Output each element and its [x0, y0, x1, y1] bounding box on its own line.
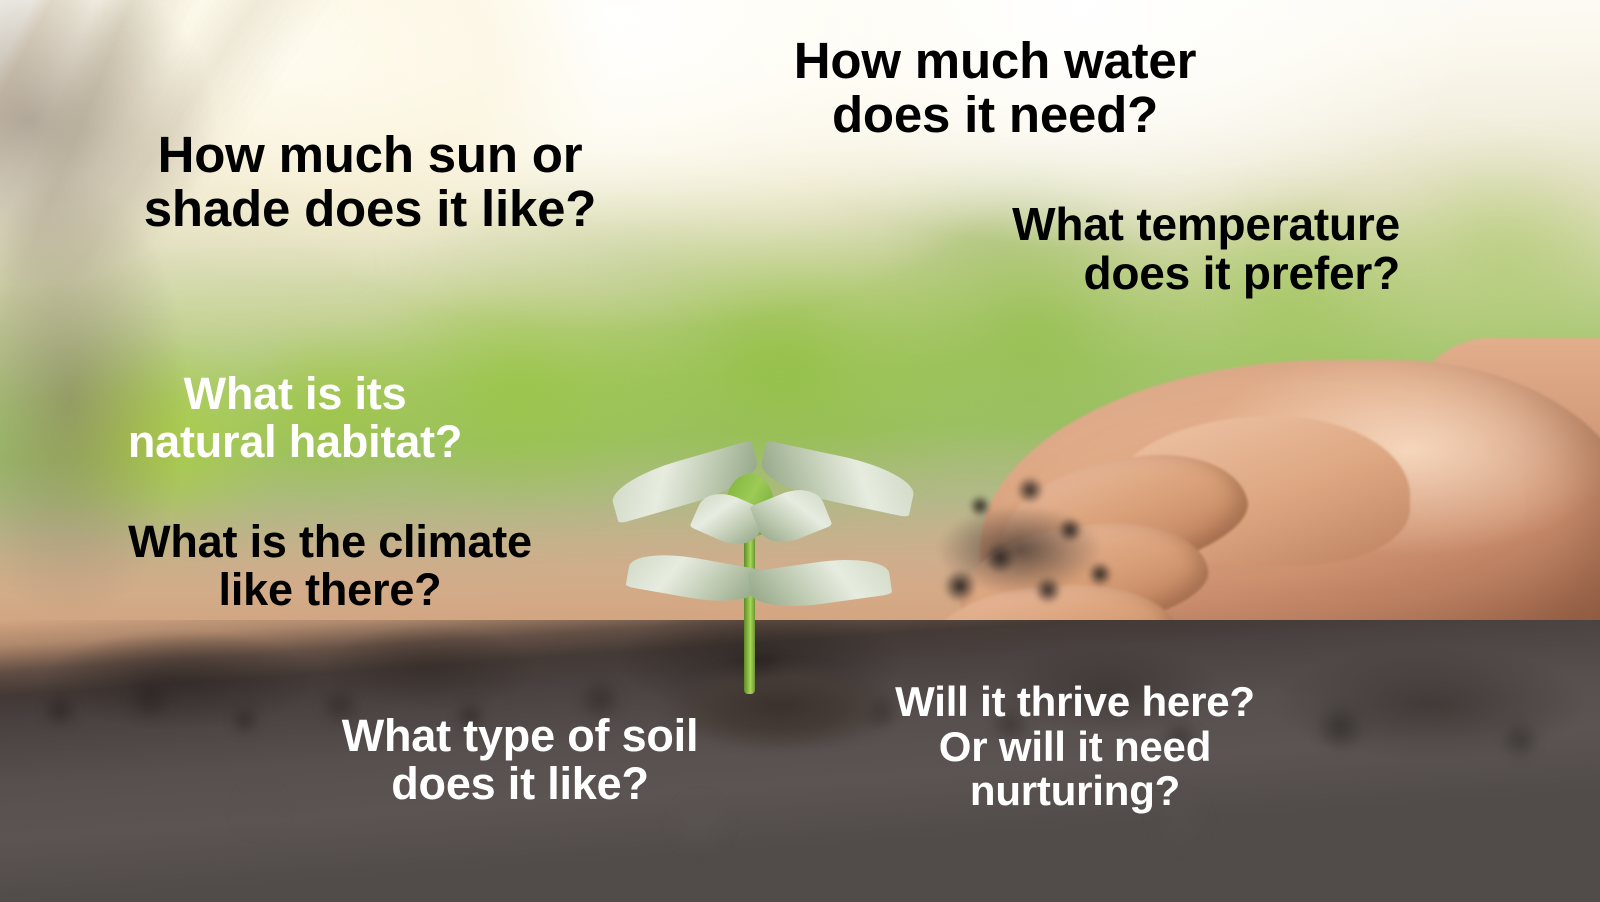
leaf-lower-right	[748, 552, 892, 613]
question-natural-habitat: What is its natural habitat?	[80, 370, 510, 465]
leaf-lower-left	[626, 547, 761, 609]
seedling-stem	[744, 522, 755, 694]
question-sun-shade: How much sun or shade does it like?	[120, 128, 620, 236]
infographic-canvas: How much sun or shade does it like? How …	[0, 0, 1600, 902]
question-soil-type: What type of soil does it like?	[290, 712, 750, 807]
question-water: How much water does it need?	[760, 34, 1230, 142]
seedling-plant	[600, 430, 940, 690]
question-climate: What is the climate like there?	[70, 518, 590, 613]
question-temperature: What temperature does it prefer?	[900, 200, 1400, 298]
soil-in-hand	[920, 470, 1170, 630]
question-thrive-or-nurture: Will it thrive here? Or will it need nur…	[840, 680, 1310, 814]
